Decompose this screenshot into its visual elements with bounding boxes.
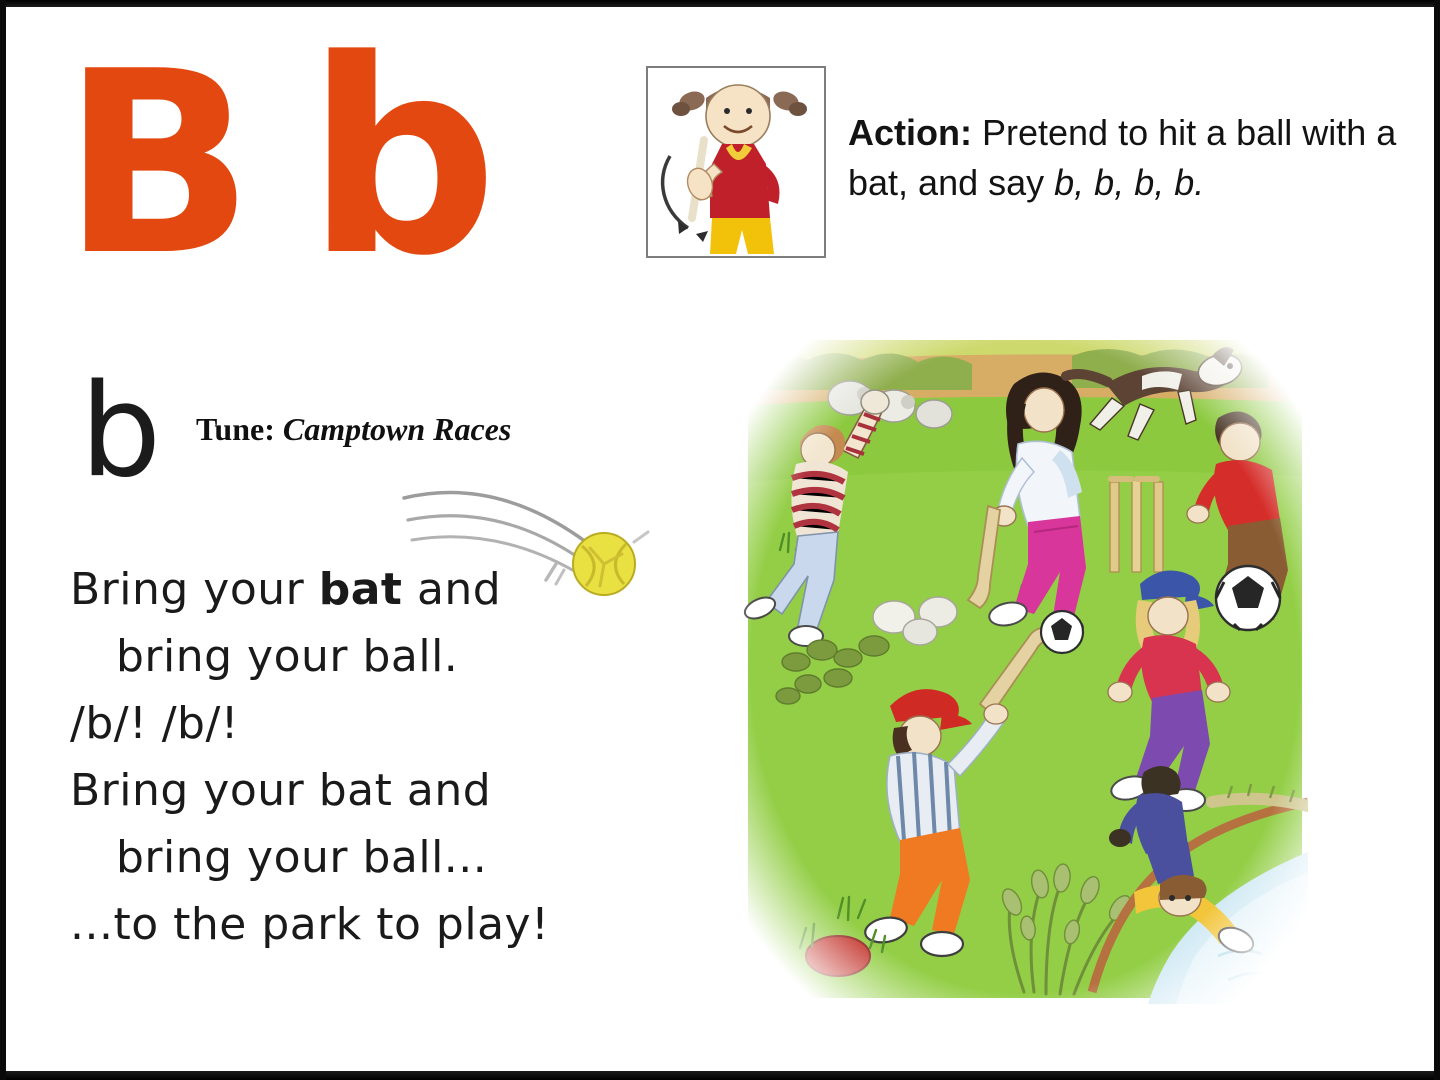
lyric-line: bring your ball... [70,824,690,891]
park-scene-illustration [742,332,1308,1004]
lyric-line: /b/! /b/! [70,690,690,757]
lyric-text: Bring your [70,564,319,615]
action-sound-repeat: b, b, b, b. [1054,162,1204,203]
lyric-bold-word: bat [319,564,403,615]
lyric-line: bring your ball. [70,623,690,690]
slide-root: Bb [0,0,1440,1080]
lyric-tail: and [402,564,501,615]
action-label: Action: [848,112,972,153]
frame-bottom-bar [0,1071,1440,1080]
frame-top-bar [0,0,1440,7]
tune-title: Camptown Races [283,411,511,447]
tune-label: Tune: [196,411,275,447]
song-lyrics: Bring your bat and bring your ball. /b/!… [70,556,690,958]
song-letter-b: b [80,368,161,496]
tune-line: Tune: Camptown Races [196,411,511,448]
action-text: Action: Pretend to hit a ball with a bat… [848,66,1440,208]
girl-swinging-bat-icon [646,66,826,258]
lyric-line: Bring your bat and [70,757,690,824]
letter-pair-heading: Bb [62,34,582,314]
frame-right-bar [1434,0,1440,1080]
uppercase-letter-b: B [62,18,306,311]
frame-left-bar [0,0,6,1080]
lyric-line: Bring your bat and [70,556,690,623]
action-row: Action: Pretend to hit a ball with a bat… [646,66,1440,258]
lyric-line: ...to the park to play! [70,891,690,958]
lowercase-letter-b: b [306,3,550,315]
